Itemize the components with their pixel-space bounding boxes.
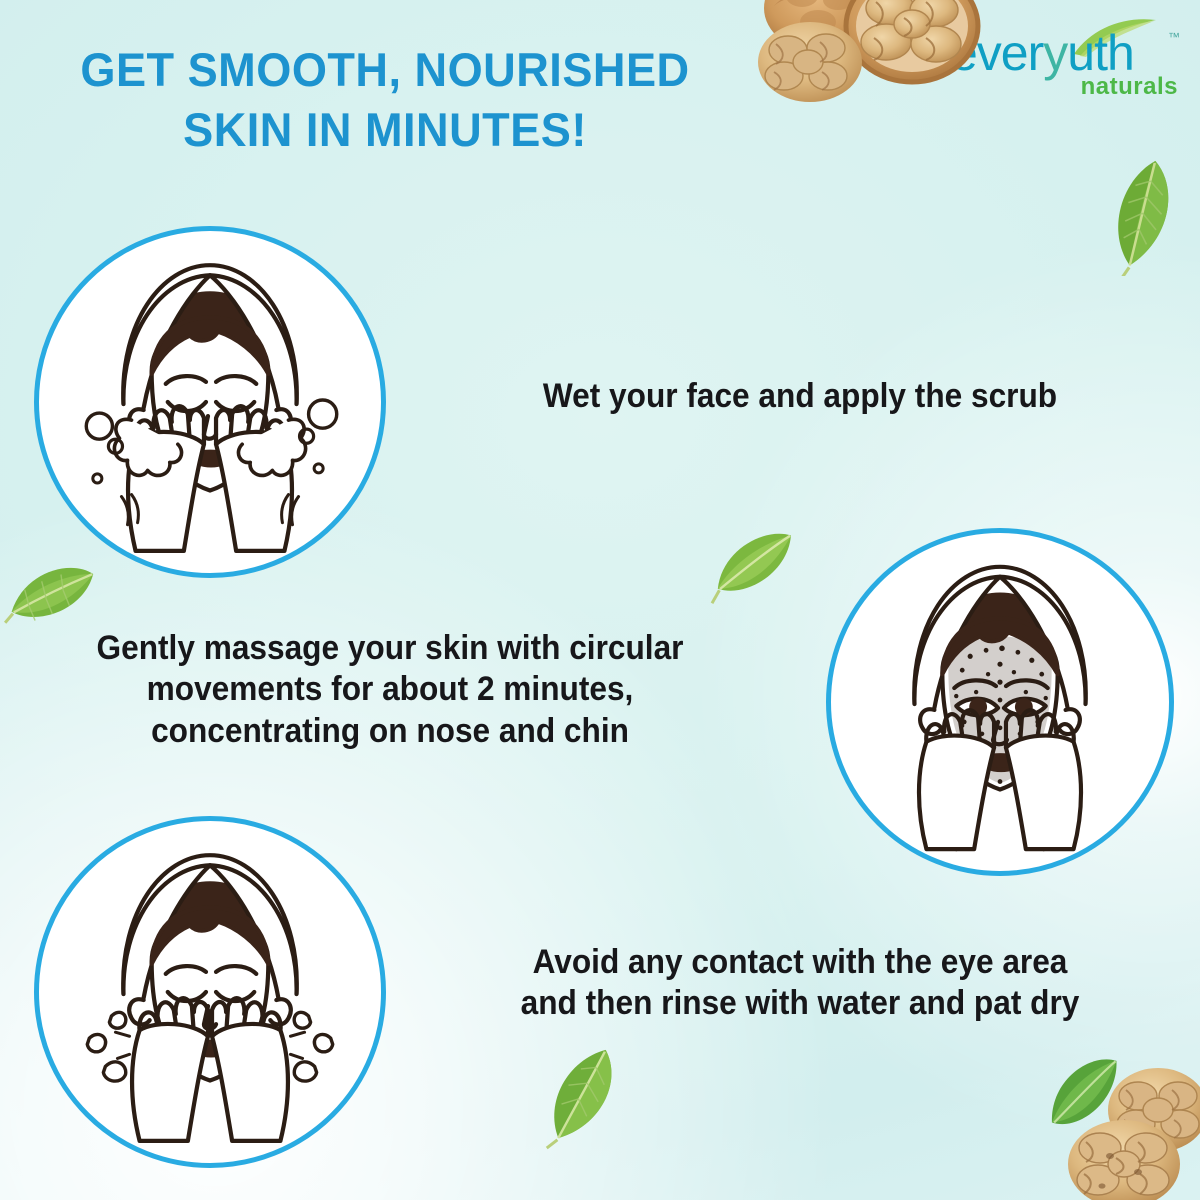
page-title: GET SMOOTH, NOURISHED SKIN IN MINUTES!: [15, 40, 754, 160]
leaf-middle-icon: [700, 518, 810, 610]
leaf-top-right-icon: [1086, 152, 1190, 276]
headline-line-1: GET SMOOTH, NOURISHED: [15, 40, 754, 100]
promotional-poster: GET SMOOTH, NOURISHED SKIN IN MINUTES! e…: [0, 0, 1200, 1200]
step-3-caption-line-1: Avoid any contact with the eye area: [465, 942, 1135, 983]
step-2-caption-line-2: movements for about 2 minutes,: [65, 669, 716, 710]
step-3-caption-line-2: and then rinse with water and pat dry: [465, 983, 1135, 1024]
step-2-caption-line-1: Gently massage your skin with circular: [65, 628, 716, 669]
step-2-caption-line-3: concentrating on nose and chin: [65, 711, 716, 752]
step-2-caption: Gently massage your skin with circular m…: [65, 628, 716, 752]
leaf-bottom-icon: [528, 1038, 636, 1150]
step-2-illustration-circle: [826, 528, 1174, 876]
step-1-caption-line-1: Wet your face and apply the scrub: [456, 376, 1144, 417]
woman-massaging-scrub-mask-icon: [831, 533, 1169, 871]
step-3-illustration-circle: [34, 816, 386, 1168]
headline-line-2: SKIN IN MINUTES!: [15, 100, 754, 160]
step-1-illustration-circle: [34, 226, 386, 578]
woman-washing-face-with-bubbles-icon: [39, 231, 381, 573]
woman-rinsing-face-with-water-droplets-icon: [39, 821, 381, 1163]
leaf-left-edge-icon: [2, 552, 102, 642]
step-1-caption: Wet your face and apply the scrub: [456, 376, 1144, 417]
step-3-caption: Avoid any contact with the eye area and …: [465, 942, 1135, 1025]
brand-tagline: naturals: [1081, 73, 1178, 101]
trademark-symbol: ™: [1168, 30, 1180, 44]
walnut-cluster-top-icon: [744, 0, 990, 116]
brand-name-part-2: y: [1043, 25, 1067, 81]
walnut-cluster-bottom-icon: [1040, 1052, 1200, 1200]
